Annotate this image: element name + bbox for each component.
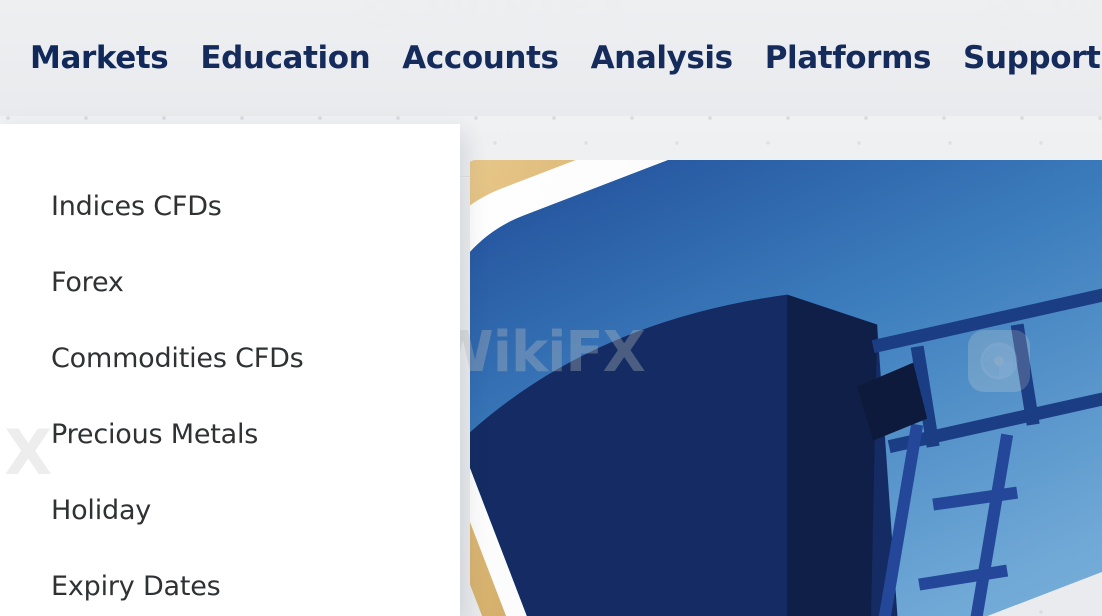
hero-device-graphic [470, 160, 1102, 616]
nav-item-markets[interactable]: Markets [14, 34, 184, 82]
nav-item-education[interactable]: Education [184, 34, 386, 82]
dropdown-item-forex[interactable]: Forex [0, 244, 460, 320]
oil-pumpjack-icon [470, 160, 1102, 616]
nav-item-accounts[interactable]: Accounts [386, 34, 574, 82]
device-screen [470, 160, 1102, 616]
device-screen-content [470, 160, 1102, 616]
dropdown-item-expiry-dates[interactable]: Expiry Dates [0, 548, 460, 616]
nav-item-support[interactable]: Support [947, 34, 1102, 82]
dropdown-item-commodities-cfds[interactable]: Commodities CFDs [0, 320, 460, 396]
nav-item-analysis[interactable]: Analysis [575, 34, 749, 82]
dropdown-item-indices-cfds[interactable]: Indices CFDs [0, 168, 460, 244]
dropdown-item-precious-metals[interactable]: Precious Metals [0, 396, 460, 472]
page-stage: WikiFX WikiFX WikiFX [0, 0, 1102, 616]
nav-item-platforms[interactable]: Platforms [749, 34, 947, 82]
markets-dropdown-panel: FX Indices CFDs Forex Commodities CFDs P… [0, 124, 460, 616]
main-navigation: Markets Education Accounts Analysis Plat… [0, 0, 1102, 116]
markets-dropdown-list: Indices CFDs Forex Commodities CFDs Prec… [0, 124, 460, 616]
dropdown-item-holiday[interactable]: Holiday [0, 472, 460, 548]
